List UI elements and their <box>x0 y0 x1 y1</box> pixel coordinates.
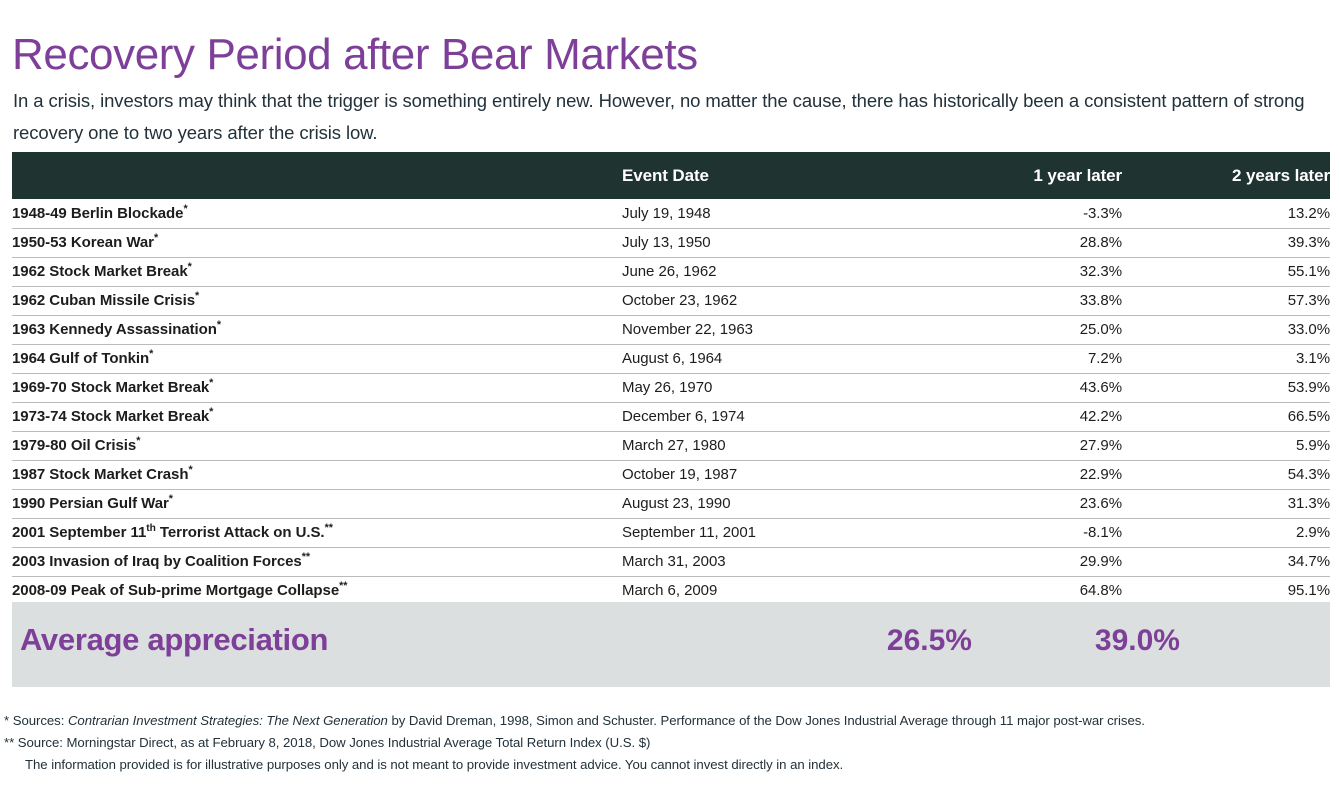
table-row: 2008-09 Peak of Sub-prime Mortgage Colla… <box>12 576 1330 605</box>
cell-one-year: 23.6% <box>922 489 1122 518</box>
footnote-line-1: * Sources: Contrarian Investment Strateg… <box>4 710 1334 732</box>
footnote-1-suffix: by David Dreman, 1998, Simon and Schuste… <box>388 713 1145 728</box>
average-appreciation-row: Average appreciation 26.5% 39.0% <box>12 602 1330 687</box>
average-label: Average appreciation <box>20 622 328 658</box>
table-header-row: Event Date 1 year later 2 years later <box>12 152 1330 199</box>
cell-two-years: 39.3% <box>1122 228 1330 257</box>
cell-two-years: 95.1% <box>1122 576 1330 605</box>
event-name-part: 1962 Stock Market Break <box>12 263 188 280</box>
event-name-part: 1963 Kennedy Assassination <box>12 321 217 338</box>
event-name-part: 1948-49 Berlin Blockade <box>12 205 183 222</box>
table-header: Event Date 1 year later 2 years later <box>12 152 1330 199</box>
cell-one-year: 28.8% <box>922 228 1122 257</box>
footnotes: * Sources: Contrarian Investment Strateg… <box>4 710 1334 776</box>
cell-one-year: -8.1% <box>922 518 1122 547</box>
table-row: 1969-70 Stock Market Break*May 26, 19704… <box>12 373 1330 402</box>
cell-event-name: 2003 Invasion of Iraq by Coalition Force… <box>12 547 622 576</box>
cell-event-date: August 23, 1990 <box>622 489 922 518</box>
cell-event-date: July 13, 1950 <box>622 228 922 257</box>
recovery-table-container: Event Date 1 year later 2 years later 19… <box>12 152 1330 606</box>
cell-two-years: 5.9% <box>1122 431 1330 460</box>
footnote-marker: * <box>209 377 213 389</box>
average-one-year-value: 26.5% <box>810 624 1010 658</box>
event-name-part: 1962 Cuban Missile Crisis <box>12 292 195 309</box>
cell-event-name: 1962 Stock Market Break* <box>12 257 622 286</box>
cell-event-date: October 19, 1987 <box>622 460 922 489</box>
cell-event-date: May 26, 1970 <box>622 373 922 402</box>
table-row: 1964 Gulf of Tonkin*August 6, 19647.2%3.… <box>12 344 1330 373</box>
table-body: 1948-49 Berlin Blockade*July 19, 1948-3.… <box>12 199 1330 605</box>
event-name-part: 1987 Stock Market Crash <box>12 466 188 483</box>
cell-two-years: 34.7% <box>1122 547 1330 576</box>
event-name-part: 2001 September 11 <box>12 524 146 541</box>
event-name-part: 1973-74 Stock Market Break <box>12 408 209 425</box>
cell-event-date: March 27, 1980 <box>622 431 922 460</box>
slide-root: Recovery Period after Bear Markets In a … <box>0 0 1341 789</box>
event-name-part: 1979-80 Oil Crisis <box>12 437 136 454</box>
cell-event-date: March 31, 2003 <box>622 547 922 576</box>
cell-two-years: 3.1% <box>1122 344 1330 373</box>
table-row: 1962 Stock Market Break*June 26, 196232.… <box>12 257 1330 286</box>
recovery-table: Event Date 1 year later 2 years later 19… <box>12 152 1330 606</box>
event-name-part: Terrorist Attack on U.S. <box>156 524 325 541</box>
footnote-marker: * <box>136 435 140 447</box>
cell-two-years: 13.2% <box>1122 199 1330 228</box>
column-header-event <box>12 152 622 199</box>
cell-two-years: 2.9% <box>1122 518 1330 547</box>
cell-two-years: 57.3% <box>1122 286 1330 315</box>
table-row: 1963 Kennedy Assassination*November 22, … <box>12 315 1330 344</box>
footnote-marker: * <box>149 348 153 360</box>
cell-one-year: 7.2% <box>922 344 1122 373</box>
footnote-1-prefix: * Sources: <box>4 713 68 728</box>
footnote-marker: * <box>195 290 199 302</box>
cell-two-years: 54.3% <box>1122 460 1330 489</box>
footnote-line-2: ** Source: Morningstar Direct, as at Feb… <box>4 732 1334 754</box>
cell-one-year: 25.0% <box>922 315 1122 344</box>
table-row: 1948-49 Berlin Blockade*July 19, 1948-3.… <box>12 199 1330 228</box>
footnote-marker: * <box>188 261 192 273</box>
cell-one-year: 29.9% <box>922 547 1122 576</box>
event-name-part: 1990 Persian Gulf War <box>12 495 169 512</box>
cell-one-year: -3.3% <box>922 199 1122 228</box>
event-name-part: 1950-53 Korean War <box>12 234 154 251</box>
cell-event-name: 2001 September 11th Terrorist Attack on … <box>12 518 622 547</box>
footnote-marker: * <box>209 406 213 418</box>
cell-event-name: 1990 Persian Gulf War* <box>12 489 622 518</box>
cell-event-date: March 6, 2009 <box>622 576 922 605</box>
page-title: Recovery Period after Bear Markets <box>12 27 698 83</box>
cell-two-years: 55.1% <box>1122 257 1330 286</box>
cell-event-date: October 23, 1962 <box>622 286 922 315</box>
footnote-marker: * <box>169 493 173 505</box>
average-two-years-value: 39.0% <box>1012 624 1220 658</box>
footnote-1-book-title: Contrarian Investment Strategies: The Ne… <box>68 713 388 728</box>
cell-two-years: 31.3% <box>1122 489 1330 518</box>
column-header-one-year: 1 year later <box>922 152 1122 199</box>
cell-two-years: 66.5% <box>1122 402 1330 431</box>
cell-one-year: 22.9% <box>922 460 1122 489</box>
cell-event-name: 1987 Stock Market Crash* <box>12 460 622 489</box>
cell-event-name: 1948-49 Berlin Blockade* <box>12 199 622 228</box>
cell-one-year: 64.8% <box>922 576 1122 605</box>
cell-event-date: July 19, 1948 <box>622 199 922 228</box>
cell-one-year: 33.8% <box>922 286 1122 315</box>
event-name-part: 1969-70 Stock Market Break <box>12 379 209 396</box>
cell-event-date: August 6, 1964 <box>622 344 922 373</box>
cell-event-name: 1964 Gulf of Tonkin* <box>12 344 622 373</box>
column-header-event-date: Event Date <box>622 152 922 199</box>
cell-event-name: 1969-70 Stock Market Break* <box>12 373 622 402</box>
table-row: 2001 September 11th Terrorist Attack on … <box>12 518 1330 547</box>
table-row: 1950-53 Korean War*July 13, 195028.8%39.… <box>12 228 1330 257</box>
cell-one-year: 32.3% <box>922 257 1122 286</box>
table-row: 1987 Stock Market Crash*October 19, 1987… <box>12 460 1330 489</box>
cell-two-years: 33.0% <box>1122 315 1330 344</box>
table-row: 1979-80 Oil Crisis*March 27, 198027.9%5.… <box>12 431 1330 460</box>
footnote-marker: * <box>154 232 158 244</box>
event-name-part: 1964 Gulf of Tonkin <box>12 350 149 367</box>
footnote-marker: ** <box>302 551 310 563</box>
cell-event-name: 2008-09 Peak of Sub-prime Mortgage Colla… <box>12 576 622 605</box>
column-header-two-years: 2 years later <box>1122 152 1330 199</box>
cell-event-date: June 26, 1962 <box>622 257 922 286</box>
event-name-part: 2003 Invasion of Iraq by Coalition Force… <box>12 553 302 570</box>
cell-one-year: 27.9% <box>922 431 1122 460</box>
cell-event-name: 1962 Cuban Missile Crisis* <box>12 286 622 315</box>
footnote-marker: ** <box>339 580 347 592</box>
table-row: 1990 Persian Gulf War*August 23, 199023.… <box>12 489 1330 518</box>
footnote-marker: * <box>217 319 221 331</box>
footnote-marker: * <box>188 464 192 476</box>
ordinal-suffix: th <box>146 523 156 534</box>
footnote-line-3: The information provided is for illustra… <box>4 754 1334 776</box>
event-name-part: 2008-09 Peak of Sub-prime Mortgage Colla… <box>12 582 339 599</box>
cell-event-date: November 22, 1963 <box>622 315 922 344</box>
footnote-marker: ** <box>325 522 333 534</box>
cell-event-name: 1979-80 Oil Crisis* <box>12 431 622 460</box>
cell-two-years: 53.9% <box>1122 373 1330 402</box>
table-row: 2003 Invasion of Iraq by Coalition Force… <box>12 547 1330 576</box>
cell-event-date: December 6, 1974 <box>622 402 922 431</box>
cell-event-name: 1950-53 Korean War* <box>12 228 622 257</box>
cell-event-name: 1973-74 Stock Market Break* <box>12 402 622 431</box>
cell-one-year: 43.6% <box>922 373 1122 402</box>
cell-event-name: 1963 Kennedy Assassination* <box>12 315 622 344</box>
intro-paragraph: In a crisis, investors may think that th… <box>13 85 1323 149</box>
cell-one-year: 42.2% <box>922 402 1122 431</box>
table-row: 1962 Cuban Missile Crisis*October 23, 19… <box>12 286 1330 315</box>
footnote-marker: * <box>183 203 187 215</box>
cell-event-date: September 11, 2001 <box>622 518 922 547</box>
table-row: 1973-74 Stock Market Break*December 6, 1… <box>12 402 1330 431</box>
